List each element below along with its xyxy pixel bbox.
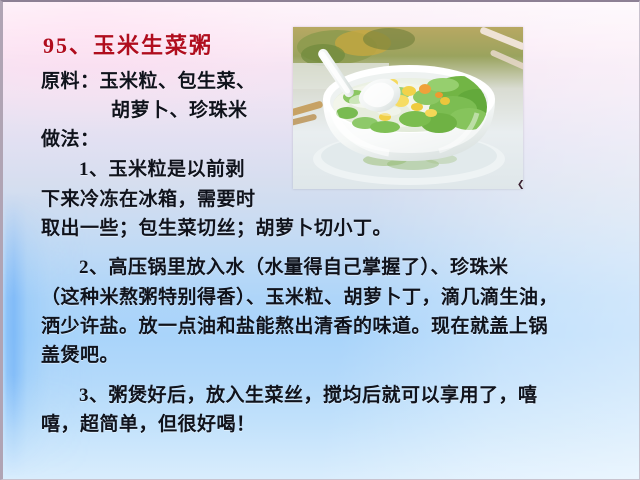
step-2-line-3: 洒少许盐。放一点油和盐能熬出清香的味道。现在就盖上锅 (41, 311, 548, 338)
step-2-line-1: 2、高压锅里放入水（水量得自己掌握了）、珍珠米 (79, 252, 509, 279)
step-1-line-3: 取出一些；包生菜切丝；胡萝卜切小丁。 (41, 213, 392, 240)
recipe-slide: ❮ 95、玉米生菜粥 原料：玉米粒、包生菜、 胡萝卜、珍珠米 做法： 1、玉米粒… (0, 0, 640, 480)
step-3-line-1: 3、粥煲好后，放入生菜丝，搅均后就可以享用了，嘻 (79, 380, 538, 407)
step-3-line-2: 嘻，超简单，但很好喝！ (41, 409, 256, 436)
step-1-line-1: 1、玉米粒是以前剥 (79, 154, 245, 181)
step-2-line-2: （这种米熬粥特别得香）、玉米粒、胡萝卜丁，滴几滴生油， (41, 282, 558, 309)
ingredients-label: 原料：玉米粒、包生菜、 (41, 66, 256, 93)
ingredients-label-continued: 胡萝卜、珍珠米 (111, 95, 248, 122)
slide-text-column: 95、玉米生菜粥 原料：玉米粒、包生菜、 胡萝卜、珍珠米 做法： 1、玉米粒是以… (3, 2, 640, 480)
recipe-title: 95、玉米生菜粥 (43, 28, 213, 60)
step-1-line-2: 下来冷冻在冰箱，需要时 (41, 184, 256, 211)
step-2-line-4: 盖煲吧。 (41, 340, 119, 367)
method-label: 做法： (41, 124, 100, 151)
